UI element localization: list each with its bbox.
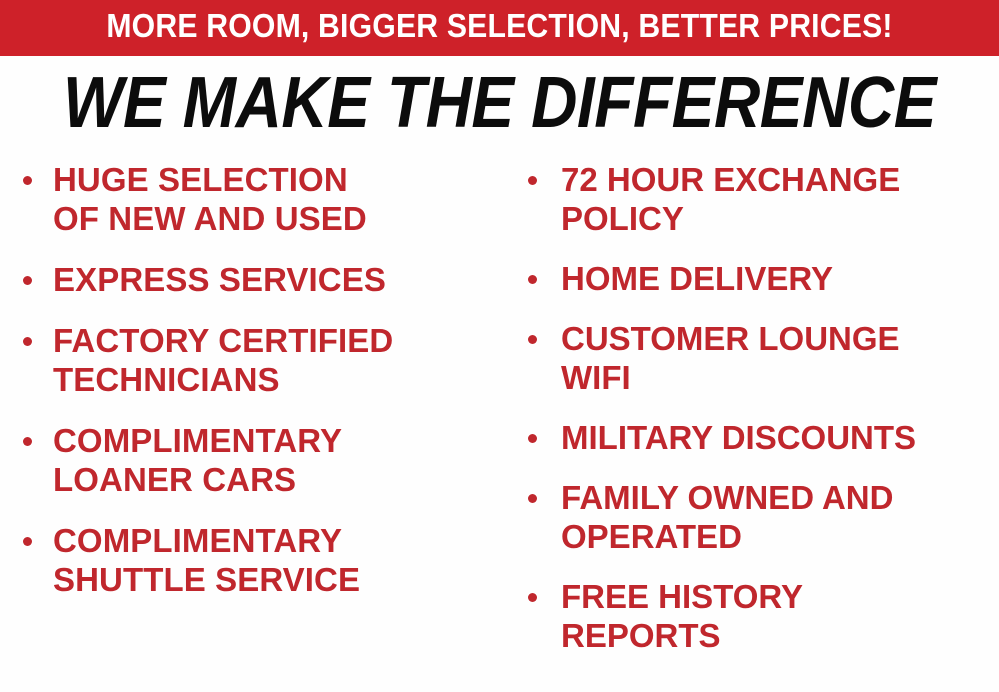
list-item-label: MILITARY DISCOUNTS: [561, 418, 999, 457]
list-item-label: CUSTOMER LOUNGE WIFI: [561, 319, 999, 397]
bullet-dot-icon: [528, 494, 537, 503]
bullet-dot-icon: [23, 337, 32, 346]
bullet-dot-icon: [528, 335, 537, 344]
list-item: 72 HOUR EXCHANGE POLICY: [519, 160, 999, 238]
list-item: CUSTOMER LOUNGE WIFI: [519, 319, 999, 397]
list-item-label: EXPRESS SERVICES: [53, 260, 509, 299]
list-item-label: 72 HOUR EXCHANGE POLICY: [561, 160, 999, 238]
bullet-dot-icon: [23, 437, 32, 446]
list-item: EXPRESS SERVICES: [14, 260, 509, 299]
list-item-label: HUGE SELECTION OF NEW AND USED: [53, 160, 509, 238]
list-item: FAMILY OWNED AND OPERATED: [519, 478, 999, 556]
list-item-label: FAMILY OWNED AND OPERATED: [561, 478, 999, 556]
list-item: FREE HISTORY REPORTS: [519, 577, 999, 655]
list-item: HOME DELIVERY: [519, 259, 999, 298]
poster-root: MORE ROOM, BIGGER SELECTION, BETTER PRIC…: [0, 0, 999, 692]
list-item: MILITARY DISCOUNTS: [519, 418, 999, 457]
list-item: FACTORY CERTIFIED TECHNICIANS: [14, 321, 509, 399]
bullet-dot-icon: [528, 434, 537, 443]
list-item-label: FREE HISTORY REPORTS: [561, 577, 999, 655]
bullet-dot-icon: [23, 537, 32, 546]
bullet-dot-icon: [528, 176, 537, 185]
list-item-label: FACTORY CERTIFIED TECHNICIANS: [53, 321, 509, 399]
list-item-label: COMPLIMENTARY SHUTTLE SERVICE: [53, 521, 509, 599]
list-item-label: HOME DELIVERY: [561, 259, 999, 298]
bullet-dot-icon: [528, 275, 537, 284]
bullet-dot-icon: [23, 176, 32, 185]
bullet-dot-icon: [528, 593, 537, 602]
top-banner: MORE ROOM, BIGGER SELECTION, BETTER PRIC…: [0, 0, 999, 56]
feature-column-right: 72 HOUR EXCHANGE POLICY HOME DELIVERY CU…: [519, 160, 999, 676]
feature-column-left: HUGE SELECTION OF NEW AND USED EXPRESS S…: [14, 160, 509, 621]
list-item: COMPLIMENTARY SHUTTLE SERVICE: [14, 521, 509, 599]
list-item: COMPLIMENTARY LOANER CARS: [14, 421, 509, 499]
list-item: HUGE SELECTION OF NEW AND USED: [14, 160, 509, 238]
page-title: WE MAKE THE DIFFERENCE: [55, 64, 944, 142]
bullet-dot-icon: [23, 276, 32, 285]
feature-columns: HUGE SELECTION OF NEW AND USED EXPRESS S…: [0, 160, 999, 692]
banner-headline: MORE ROOM, BIGGER SELECTION, BETTER PRIC…: [42, 0, 956, 52]
list-item-label: COMPLIMENTARY LOANER CARS: [53, 421, 509, 499]
